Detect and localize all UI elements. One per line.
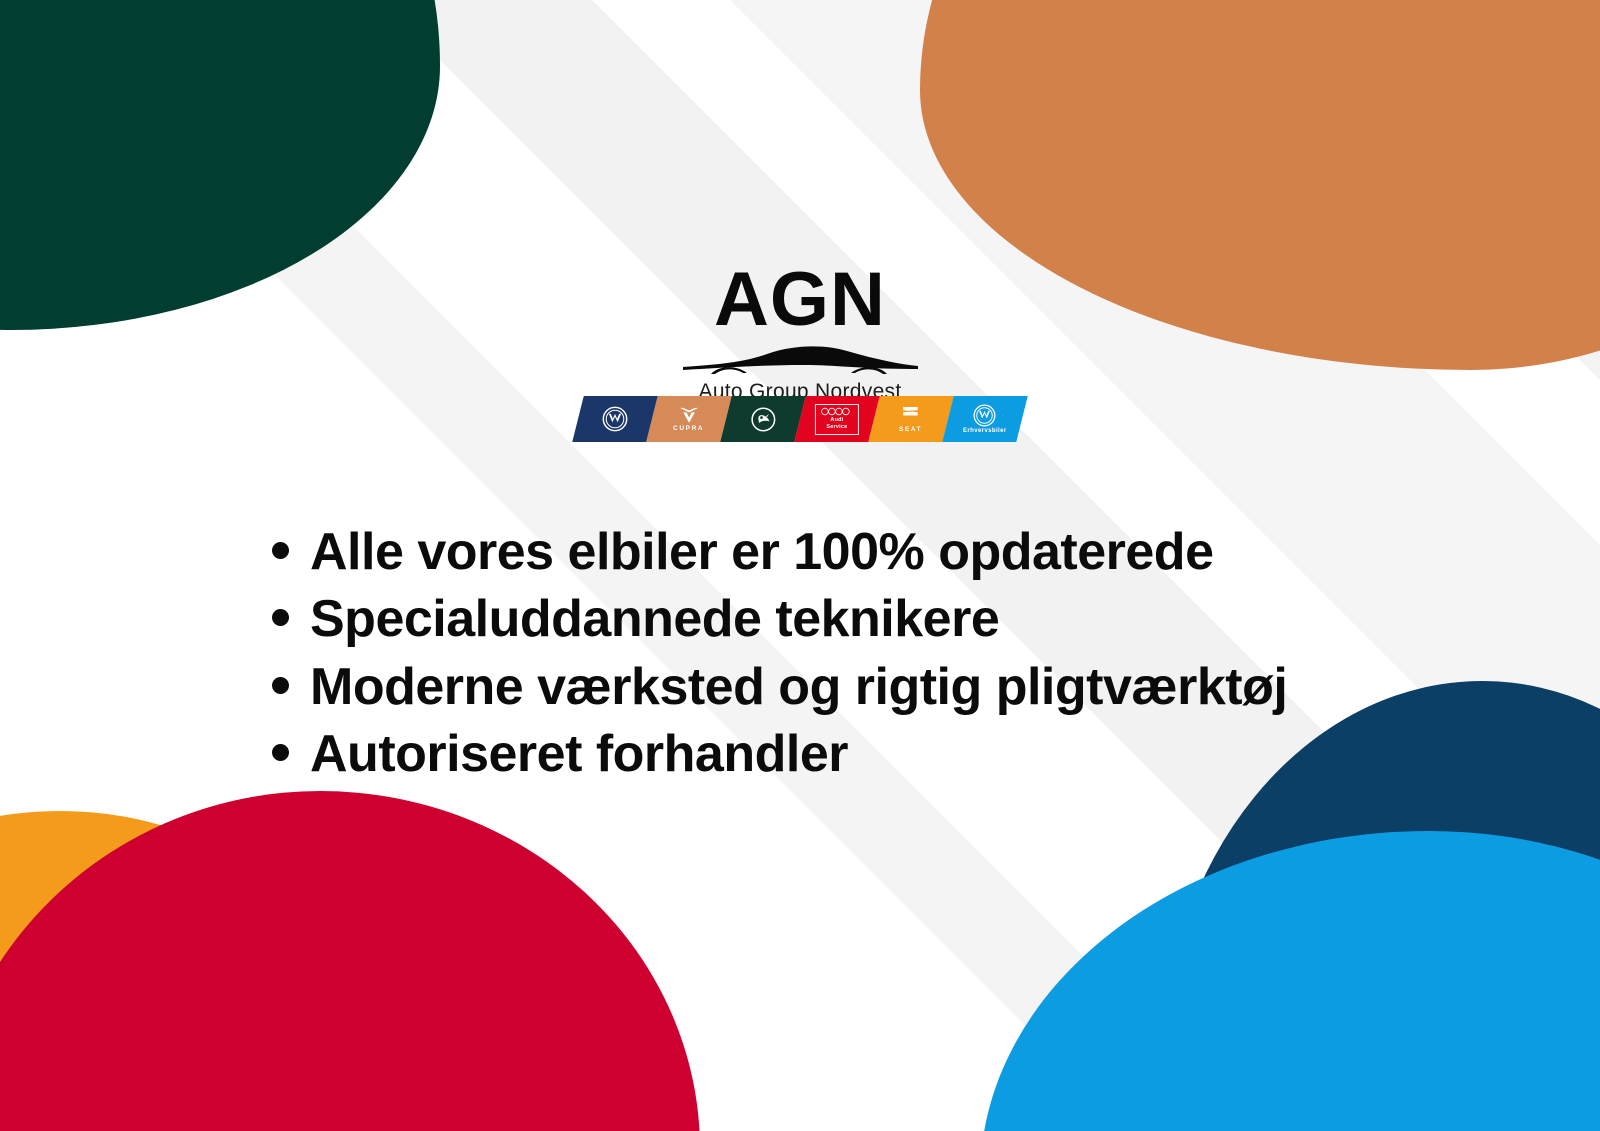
car-silhouette-icon (675, 340, 925, 378)
bullet-dot-icon (272, 609, 289, 626)
bullet-text: Alle vores elbiler er 100% opdaterede (310, 522, 1213, 583)
top-left-green-blob (0, 0, 440, 330)
feature-bullet-list: Alle vores elbiler er 100% opdaterede Sp… (272, 522, 1287, 791)
skoda-logo-icon (751, 407, 776, 432)
list-item: Autoriseret forhandler (272, 724, 1287, 785)
list-item: Specialuddannede teknikere (272, 589, 1287, 650)
vw-logo-icon (602, 406, 628, 432)
brand-segment-label: SEAT (899, 427, 922, 434)
bullet-text: Specialuddannede teknikere (310, 589, 999, 650)
bullet-dot-icon (272, 744, 289, 761)
brand-segment-audi-service[interactable]: Audi Service (794, 396, 879, 442)
brand-segment-skoda[interactable] (720, 396, 805, 442)
seat-logo-icon (901, 405, 920, 426)
cupra-logo-icon (678, 405, 700, 425)
list-item: Alle vores elbiler er 100% opdaterede (272, 522, 1287, 583)
marketing-slide: AGN Auto Group Nordvest (0, 0, 1600, 1131)
bullet-text: Moderne værksted og rigtig pligtværktøj (310, 657, 1287, 718)
brand-segment-label: CUPRA (673, 426, 704, 433)
vw-logo-icon (974, 404, 997, 427)
brand-segment-cupra[interactable]: CUPRA (646, 396, 731, 442)
bottom-right-cyan-blob (980, 831, 1600, 1131)
audi-service-line2: Service (827, 424, 848, 430)
agn-logo: AGN Auto Group Nordvest (570, 262, 1030, 404)
bullet-text: Autoriseret forhandler (310, 724, 848, 785)
brand-segment-volkswagen[interactable] (572, 396, 657, 442)
brand-segment-seat[interactable]: SEAT (868, 396, 953, 442)
bullet-dot-icon (272, 677, 289, 694)
logo-wordmark: AGN (570, 262, 1030, 338)
brand-segment-label: Erhvervsbiler (963, 428, 1007, 434)
list-item: Moderne værksted og rigtig pligtværktøj (272, 657, 1287, 718)
audi-service-line1: Audi (830, 417, 843, 423)
brand-segment-erhvervsbiler[interactable]: Erhvervsbiler (942, 396, 1027, 442)
brand-bar: CUPRA (578, 396, 1022, 442)
audi-rings-icon (821, 407, 853, 416)
bullet-dot-icon (272, 542, 289, 559)
